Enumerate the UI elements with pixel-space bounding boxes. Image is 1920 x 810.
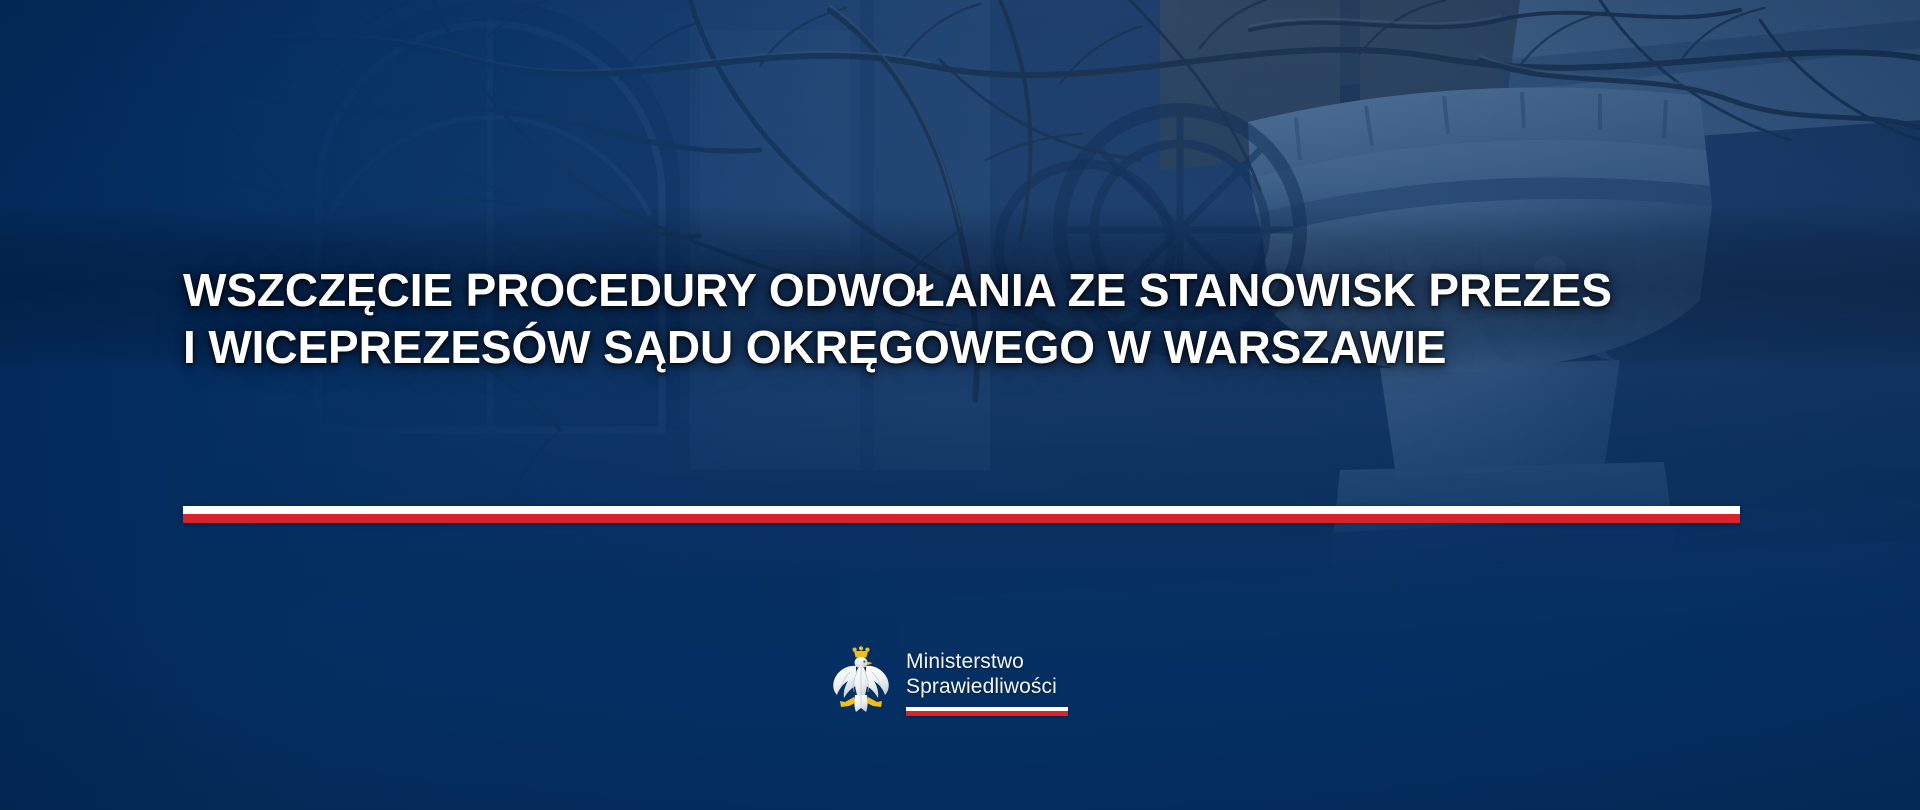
ministry-logo-line-2: Sprawiedliwości (906, 674, 1068, 699)
page-title-line-2: I WICEPREZESÓW SĄDU OKRĘGOWEGO W WARSZAW… (183, 319, 1743, 376)
divider-red-stripe (183, 514, 1740, 523)
logo-flag-red (906, 711, 1068, 716)
ministry-logo: Ministerstwo Sprawiedliwości (830, 645, 1068, 719)
page-title: WSZCZĘCIE PROCEDURY ODWOŁANIA ZE STANOWI… (183, 262, 1743, 376)
ministry-announcement-banner: WSZCZĘCIE PROCEDURY ODWOŁANIA ZE STANOWI… (0, 0, 1920, 810)
logo-flag-bar (906, 707, 1068, 716)
page-title-line-1: WSZCZĘCIE PROCEDURY ODWOŁANIA ZE STANOWI… (183, 262, 1743, 319)
polish-flag-divider (183, 506, 1740, 523)
polish-eagle-emblem-icon (830, 645, 892, 719)
ministry-logo-line-1: Ministerstwo (906, 649, 1068, 674)
divider-white-stripe (183, 506, 1740, 514)
ministry-logo-text: Ministerstwo Sprawiedliwości (906, 645, 1068, 716)
